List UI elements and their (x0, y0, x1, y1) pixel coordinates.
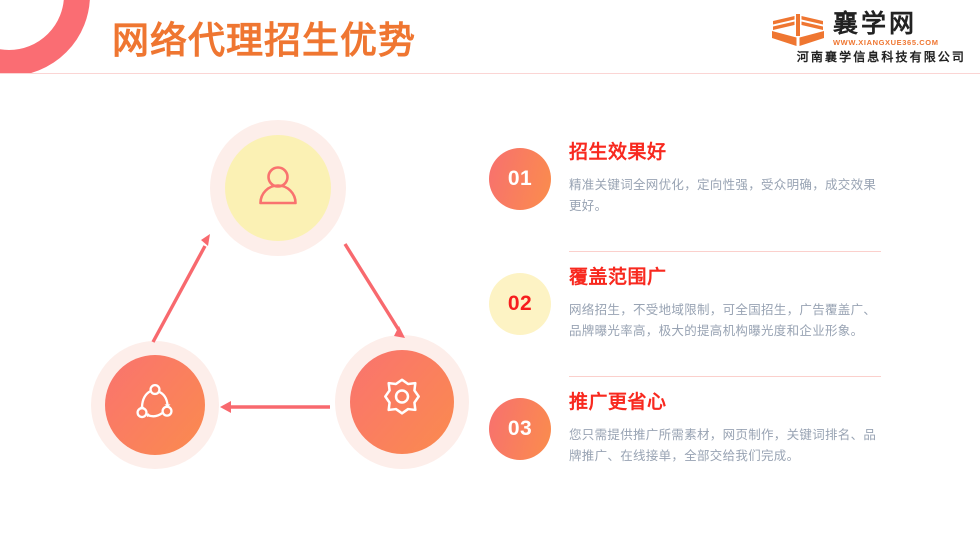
feature-description: 精准关键词全网优化，定向性强，受众明确，成交效果更好。 (569, 175, 887, 217)
feature-title: 推广更省心 (569, 390, 887, 416)
feature-number-badge: 02 (489, 273, 551, 335)
diagram-arrows (75, 110, 485, 490)
feature-item: 01 招生效果好 精准关键词全网优化，定向性强，受众明确，成交效果更好。 (489, 140, 909, 252)
feature-divider (569, 251, 881, 252)
brand-logo: 襄学网 WWW.XIANGXUE365.COM 河南襄学信息科技有限公司 (770, 10, 966, 68)
feature-number-badge: 01 (489, 148, 551, 210)
feature-divider (569, 376, 881, 377)
page-title: 网络代理招生优势 (112, 18, 416, 64)
open-book-icon (770, 10, 826, 48)
feature-item: 03 推广更省心 您只需提供推广所需素材，网页制作，关键词排名、品牌推广、在线接… (489, 390, 909, 502)
feature-item: 02 覆盖范围广 网络招生，不受地域限制，可全国招生，广告覆盖广、品牌曝光率高，… (489, 265, 909, 377)
feature-number-badge: 03 (489, 398, 551, 460)
feature-list: 01 招生效果好 精准关键词全网优化，定向性强，受众明确，成交效果更好。 02 … (489, 140, 909, 502)
arrow-top-to-right (345, 244, 405, 338)
corner-arc-mask (0, 74, 120, 114)
feature-body: 覆盖范围广 网络招生，不受地域限制，可全国招生，广告覆盖广、品牌曝光率高，极大的… (569, 265, 909, 342)
header-divider (0, 73, 980, 74)
feature-description: 您只需提供推广所需素材，网页制作，关键词排名、品牌推广、在线接单，全部交给我们完… (569, 425, 887, 467)
feature-body: 招生效果好 精准关键词全网优化，定向性强，受众明确，成交效果更好。 (569, 140, 909, 217)
logo-row: 襄学网 WWW.XIANGXUE365.COM (770, 10, 966, 48)
logo-name: 襄学网 (833, 11, 939, 38)
slide-canvas: 网络代理招生优势 襄学网 WWW. (0, 0, 980, 551)
logo-url: WWW.XIANGXUE365.COM (833, 38, 939, 48)
feature-title: 招生效果好 (569, 140, 887, 166)
arrow-right-to-left (220, 401, 330, 413)
arrow-left-to-top (153, 234, 210, 342)
feature-body: 推广更省心 您只需提供推广所需素材，网页制作，关键词排名、品牌推广、在线接单，全… (569, 390, 909, 467)
logo-text-block: 襄学网 WWW.XIANGXUE365.COM (833, 10, 939, 48)
corner-arc-decoration (0, 0, 90, 76)
logo-company-name: 河南襄学信息科技有限公司 (770, 49, 966, 65)
feature-description: 网络招生，不受地域限制，可全国招生，广告覆盖广、品牌曝光率高，极大的提高机构曝光… (569, 300, 887, 342)
feature-title: 覆盖范围广 (569, 265, 887, 291)
cycle-diagram (75, 110, 485, 490)
